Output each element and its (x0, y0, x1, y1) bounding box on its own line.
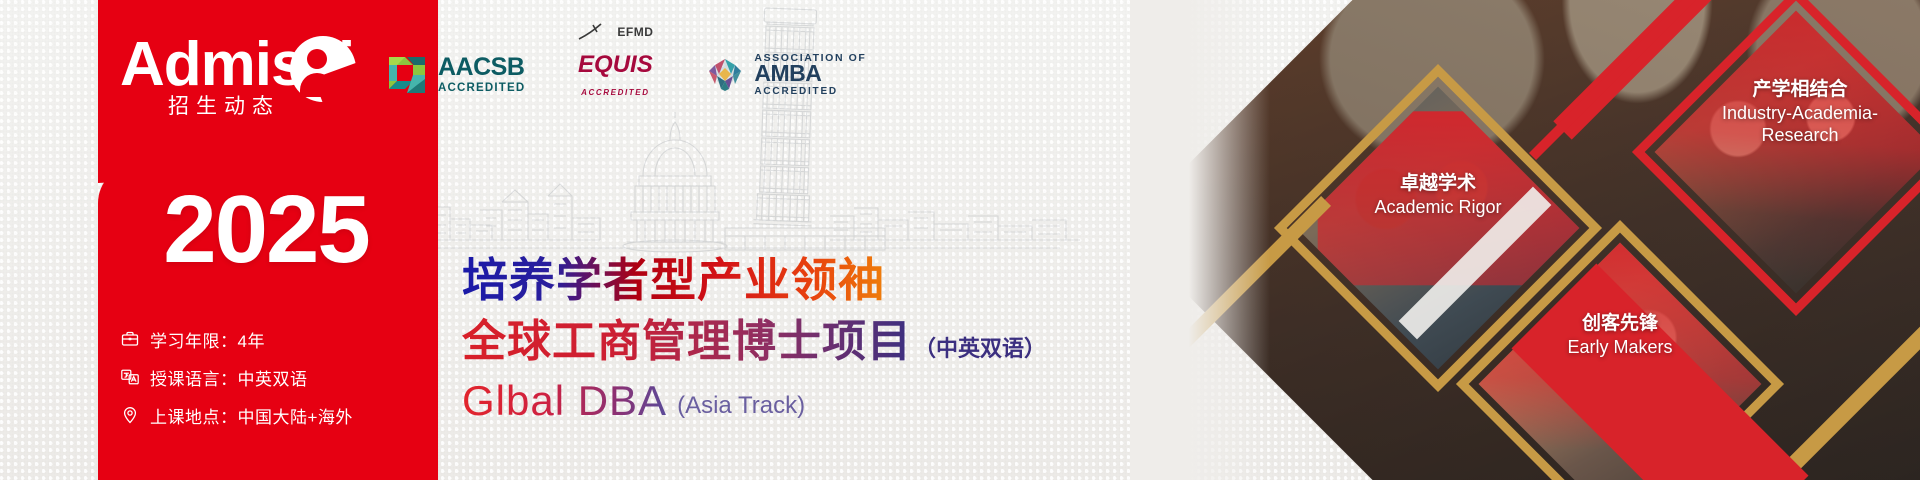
card-label-cn-early-makers: 创客先锋 (1512, 312, 1728, 335)
location-pin-icon (120, 405, 140, 425)
amba-name: AMBA (754, 62, 866, 85)
accreditation-logos: AACSB ACCREDITED EFMD EQUIS ACCREDITED (385, 22, 866, 97)
efmd-label: EFMD (617, 26, 653, 38)
briefcase-icon (120, 329, 140, 349)
photo-collage: 卓越学术 Academic Rigor 产学相结合 Industry-Acade… (1130, 0, 1920, 480)
info-duration-label: 学习年限：4年 (150, 327, 265, 352)
admission-banner: AACSB ACCREDITED EFMD EQUIS ACCREDITED (0, 0, 1920, 480)
info-row-language: 授课语言：中英双语 (120, 358, 420, 396)
card-label-en-academic-rigor: Academic Rigor (1330, 197, 1546, 219)
equis-accredited-label: ACCREDITED (581, 89, 649, 97)
card-label-cn-industry-academia-research: 产学相结合 (1692, 78, 1908, 101)
headline-program-language: （中英双语） (914, 331, 1046, 368)
info-row-location: 上课地点：中国大陆+海外 (120, 396, 420, 434)
admission-logo: Admissi 招生动态 (120, 28, 430, 138)
info-location-label: 上课地点：中国大陆+海外 (150, 403, 353, 428)
amba-logo: ASSOCIATION OF AMBA ACCREDITED (705, 53, 866, 98)
equis-name: EQUIS (578, 53, 653, 77)
admission-chinese-label: 招生动态 (168, 90, 280, 120)
year-label: 2025 (116, 182, 416, 278)
info-language-label: 授课语言：中英双语 (150, 365, 308, 390)
headline-program-name: 全球工商管理博士项目 (462, 316, 912, 368)
equis-logo: EFMD EQUIS ACCREDITED (577, 22, 653, 97)
headline-english-track: (Asia Track) (677, 392, 805, 424)
card-label-early-makers: 创客先锋 Early Makers (1512, 312, 1728, 359)
aacsb-name: AACSB (438, 55, 525, 80)
aacsb-accredited-label: ACCREDITED (438, 83, 525, 95)
card-label-cn-academic-rigor: 卓越学术 (1330, 172, 1546, 195)
card-label-industry-academia-research: 产学相结合 Industry-Academia- Research (1692, 78, 1908, 147)
language-icon (120, 367, 140, 387)
amba-diamond-icon (705, 55, 745, 95)
headline-program-name-row: 全球工商管理博士项目 （中英双语） (462, 316, 1046, 368)
card-label-en-early-makers: Early Makers (1512, 337, 1728, 359)
collage-left-fade (1130, 0, 1270, 480)
headline-block: 培养学者型产业领袖 全球工商管理博士项目 （中英双语） Glbal DBA (A… (462, 252, 1046, 424)
amba-accredited-label: ACCREDITED (754, 87, 866, 97)
headline-tagline: 培养学者型产业领袖 (462, 252, 1046, 308)
headline-english-row: Glbal DBA (Asia Track) (462, 378, 1046, 424)
left-red-panel: Admissi 招生动态 2025 学习年限：4年 (0, 0, 430, 480)
card-label-en-industry-academia-research: Industry-Academia- Research (1692, 103, 1908, 147)
headline-english-title: Glbal DBA (462, 378, 667, 424)
program-info-list: 学习年限：4年 授课语言：中英双语 上课地点：中国大陆+海外 (120, 320, 420, 434)
card-label-academic-rigor: 卓越学术 Academic Rigor (1330, 172, 1546, 219)
info-row-duration: 学习年限：4年 (120, 320, 420, 358)
efmd-swoosh-icon (577, 22, 611, 42)
